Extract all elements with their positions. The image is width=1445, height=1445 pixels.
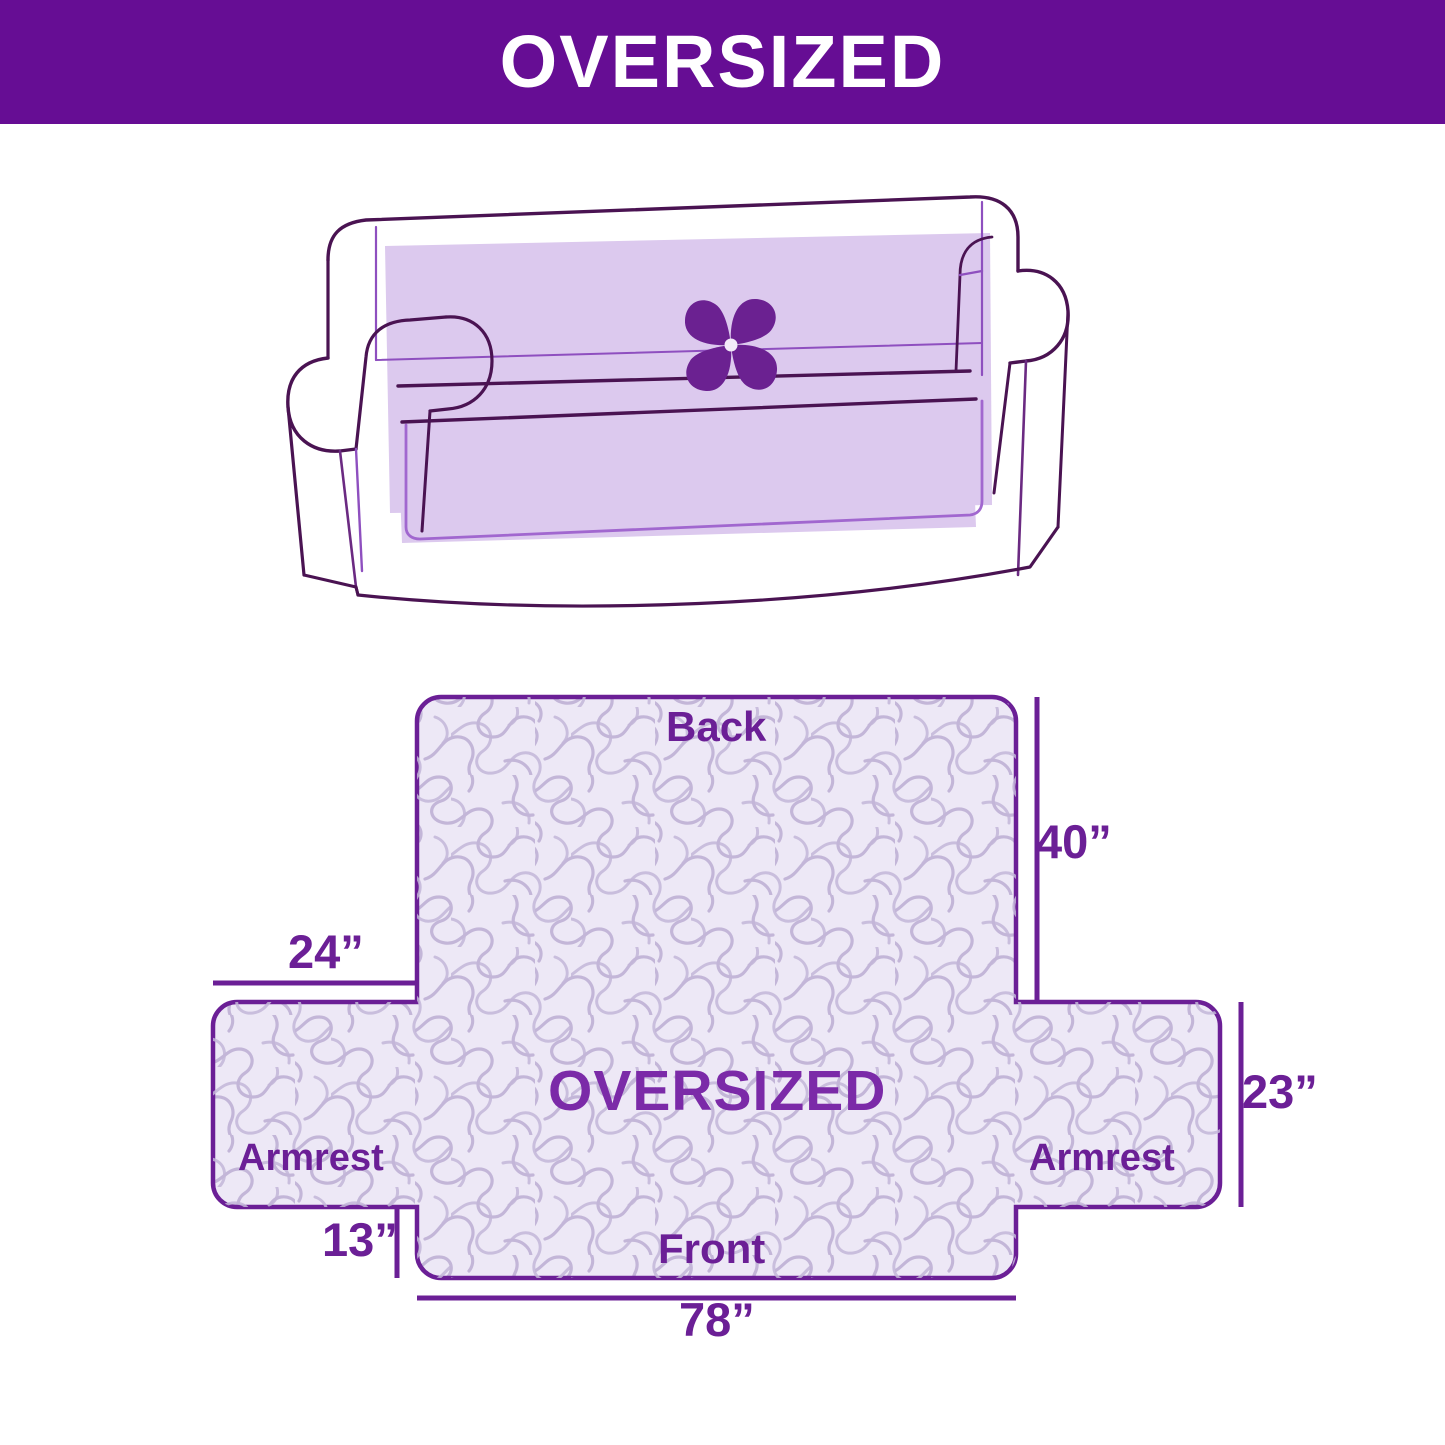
- panel-label-armrest-left: Armrest: [238, 1139, 384, 1177]
- sofa-line-drawing: [270, 175, 1200, 625]
- pinwheel-hub: [725, 339, 738, 352]
- sofa-right-arm-front-edge: [994, 363, 1010, 493]
- measurement-front-drop: 13”: [322, 1216, 398, 1263]
- measurement-armrest-width: 24”: [288, 928, 364, 975]
- sofa-base-corner: [356, 587, 358, 595]
- measurement-armrest-height: 23”: [1242, 1068, 1318, 1115]
- measurement-back-height: 40”: [1036, 818, 1112, 865]
- header-banner: OVERSIZED: [0, 0, 1445, 124]
- panel-label-front: Front: [658, 1228, 765, 1270]
- sofa-right-arm-roll-outer: [1010, 270, 1068, 363]
- sofa-right-arm-fold: [1018, 361, 1026, 575]
- cover-quilt-overlay: [213, 697, 1220, 1278]
- panel-label-armrest-right: Armrest: [1029, 1139, 1175, 1177]
- measurement-total-width: 78”: [679, 1296, 755, 1343]
- sofa-left-skirt-fold: [356, 449, 362, 571]
- panel-label-back: Back: [666, 706, 766, 748]
- sofa-illustration: [270, 175, 1200, 625]
- sofa-base-left: [304, 575, 358, 595]
- cover-cross-shape: [213, 697, 1220, 1278]
- sofa-left-arm-front-fold: [340, 451, 356, 587]
- diagram-center-label: OVERSIZED: [548, 1063, 886, 1120]
- page-title: OVERSIZED: [500, 25, 946, 99]
- sofa-left-arm-roll-outer: [288, 358, 356, 451]
